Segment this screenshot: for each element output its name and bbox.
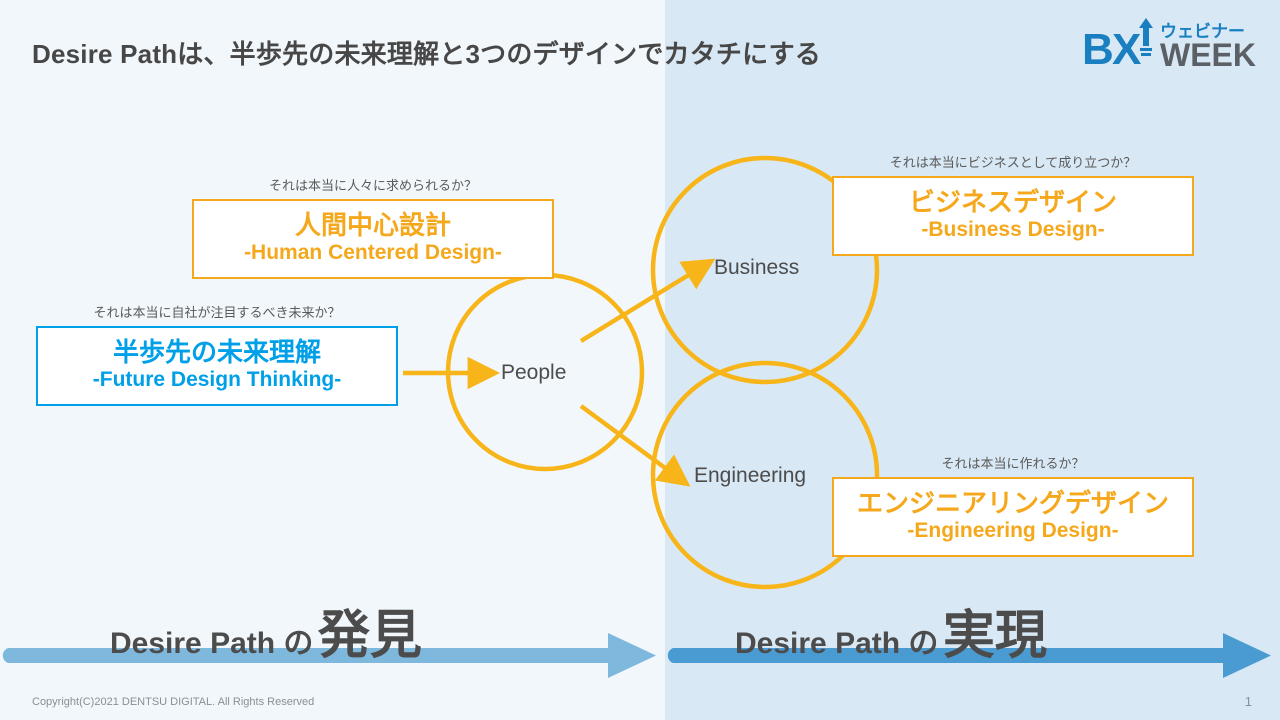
callout-title-en-hcd: -Human Centered Design- [204,240,542,265]
logo-bx-mark: B X [1082,18,1153,74]
callout-title-jp-business: ビジネスデザイン [844,187,1182,217]
callout-future-design-thinking: それは本当に自社が注目するべき未来か？ 半歩先の未来理解 -Future Des… [36,305,398,406]
callout-title-jp-fdt: 半歩先の未来理解 [48,337,386,367]
callout-card-engineering[interactable]: エンジニアリングデザイン -Engineering Design- [832,477,1194,557]
page-number: 1 [1245,694,1252,709]
page-title: Desire Pathは、半歩先の未来理解と3つのデザインでカタチにする [32,34,821,71]
callout-question-business: それは本当にビジネスとして成り立つか？ [832,155,1194,171]
phase-caption-discovery: Desire Path の 発見 [110,593,422,668]
phase-caption-realization: Desire Path の 実現 [735,593,1047,668]
phase-prefix-discovery: Desire Path の [110,627,313,660]
callout-question-engineering: それは本当に作れるか？ [832,456,1194,472]
bx-webinar-week-logo: B X ウェビナー WEEK [1080,12,1266,74]
copyright-footer: Copyright(C)2021 DENTSU DIGITAL. All Rig… [32,696,314,708]
venn-label-engineering: Engineering [694,464,806,488]
phase-discovery: Desire Path の 発見 [0,600,665,690]
callout-engineering-design: それは本当に作れるか？ エンジニアリングデザイン -Engineering De… [832,456,1194,557]
callout-title-jp-hcd: 人間中心設計 [204,210,542,240]
svg-text:B: B [1082,25,1114,74]
callout-title-en-engineering: -Engineering Design- [844,518,1182,543]
venn-label-people: People [501,361,566,385]
callout-human-centered-design: それは本当に人々に求められるか？ 人間中心設計 -Human Centered … [192,178,554,279]
slide-canvas: Desire Pathは、半歩先の未来理解と3つのデザインでカタチにする B X… [0,0,1280,720]
callout-title-jp-engineering: エンジニアリングデザイン [844,488,1182,518]
callout-question-hcd: それは本当に人々に求められるか？ [192,178,554,194]
callout-question-fdt: それは本当に自社が注目するべき未来か？ [36,305,398,321]
callout-card-hcd[interactable]: 人間中心設計 -Human Centered Design- [192,199,554,279]
phase-realization: Desire Path の 実現 [665,600,1280,690]
venn-label-business: Business [714,256,799,280]
phase-emphasis-discovery: 発見 [318,607,422,665]
callout-card-business[interactable]: ビジネスデザイン -Business Design- [832,176,1194,256]
svg-text:X: X [1112,25,1141,74]
callout-title-en-business: -Business Design- [844,217,1182,242]
phase-emphasis-realization: 実現 [943,607,1047,665]
phase-prefix-realization: Desire Path の [735,627,938,660]
callout-card-fdt[interactable]: 半歩先の未来理解 -Future Design Thinking- [36,326,398,406]
logo-week: WEEK [1160,37,1256,73]
callout-title-en-fdt: -Future Design Thinking- [48,367,386,392]
callout-business-design: それは本当にビジネスとして成り立つか？ ビジネスデザイン -Business D… [832,155,1194,256]
